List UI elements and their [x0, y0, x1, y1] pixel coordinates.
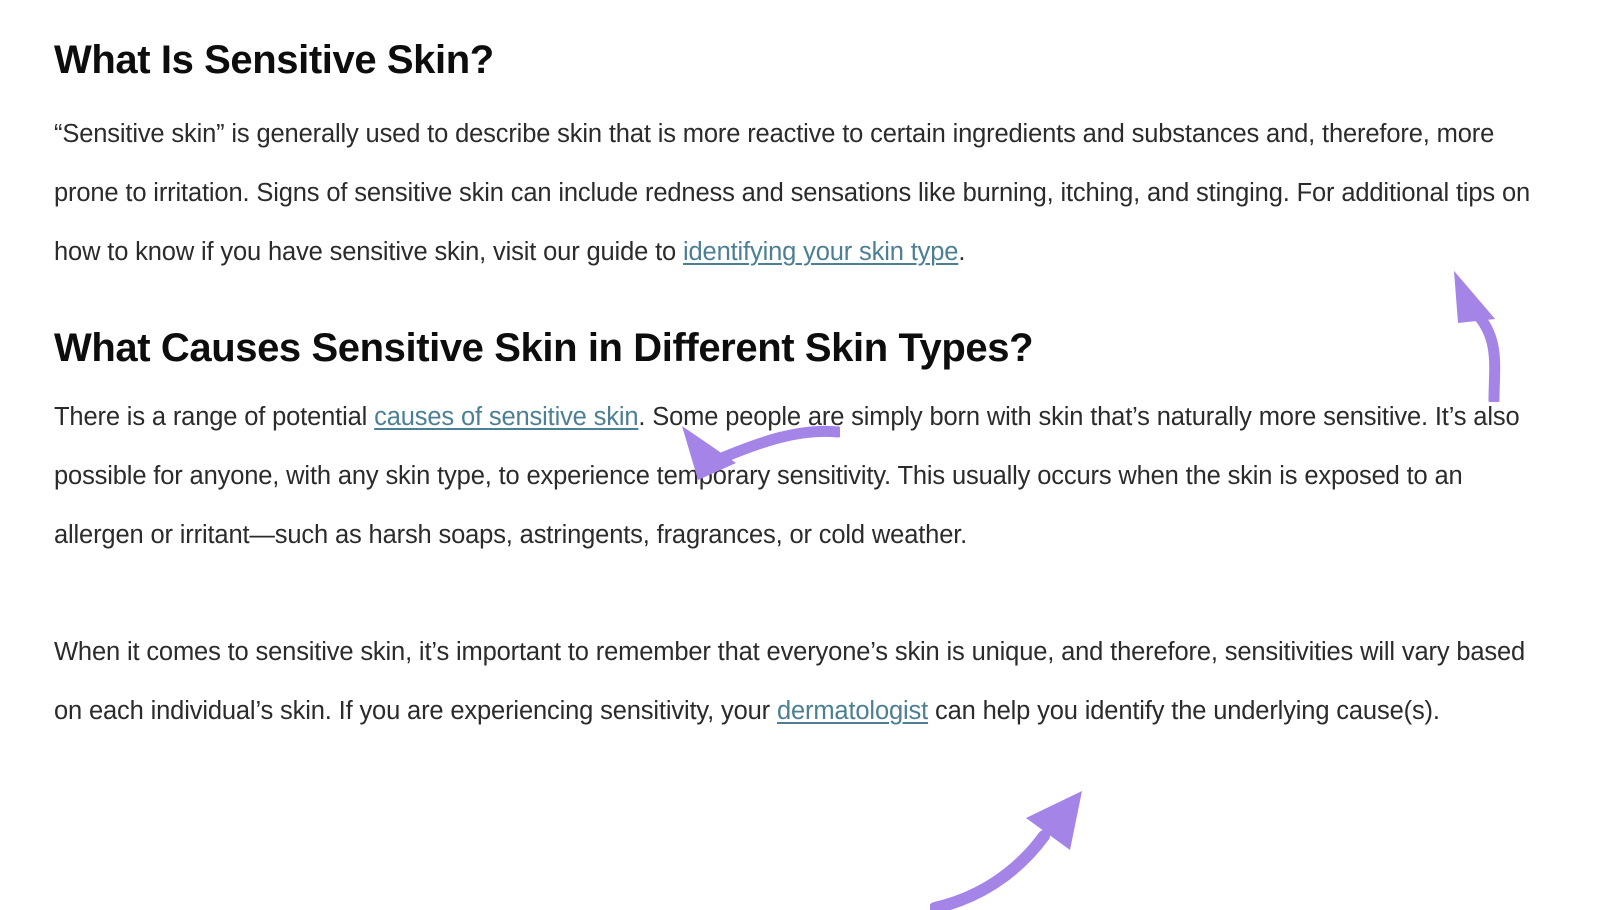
- link-dermatologist[interactable]: dermatologist: [777, 697, 928, 725]
- paragraph-2-text-before-link: There is a range of potential: [54, 403, 374, 431]
- paragraph-what-is-sensitive-skin: “Sensitive skin” is generally used to de…: [54, 105, 1546, 282]
- annotation-arrow-up-right-icon: [930, 786, 1100, 910]
- section-heading-what-is-sensitive-skin: What Is Sensitive Skin?: [54, 0, 1546, 83]
- paragraph-1-text-after-link: .: [958, 238, 965, 266]
- paragraph-causes-of-sensitive-skin: There is a range of potential causes of …: [54, 388, 1546, 565]
- link-identifying-your-skin-type[interactable]: identifying your skin type: [683, 238, 958, 266]
- article-body: What Is Sensitive Skin? “Sensitive skin”…: [0, 0, 1600, 908]
- section-heading-what-causes-sensitive-skin: What Causes Sensitive Skin in Different …: [54, 282, 1546, 371]
- paragraph-3-text-after-link: can help you identify the underlying cau…: [928, 697, 1440, 725]
- link-causes-of-sensitive-skin[interactable]: causes of sensitive skin: [374, 403, 638, 431]
- paragraph-individual-sensitivities: When it comes to sensitive skin, it’s im…: [54, 623, 1546, 741]
